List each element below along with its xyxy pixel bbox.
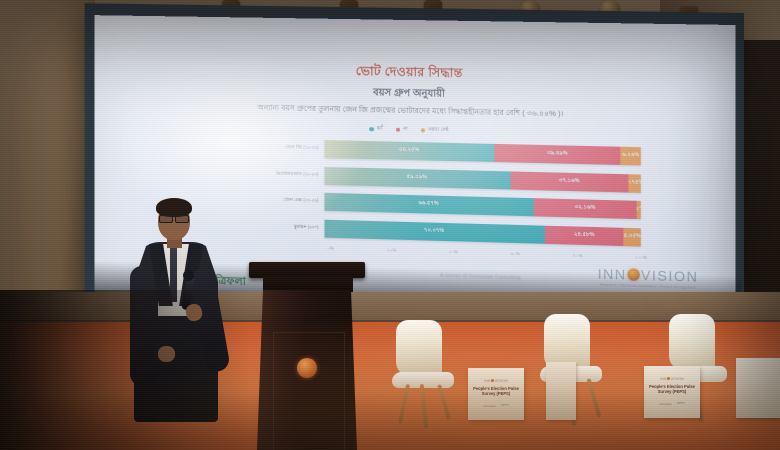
bar-group: ৬৬.৫৭% ৩২.১৬% ১.২৭% [325, 193, 641, 219]
bar-segment-no-comment: ৩.৭৫% [629, 174, 641, 193]
x-axis-tick: ৮০% [573, 253, 582, 260]
chart-row: জেন জি (১৮-২৭) ৫৪.২৫% ৩৯.৪৯% ৬.২৬% [240, 136, 641, 167]
glasses-icon [159, 215, 189, 221]
legend-item-no: না [396, 126, 408, 134]
category-age: (৬০+) [308, 224, 319, 229]
card-logo: INN VISION [660, 377, 684, 381]
category-label: জেন এক্স (৪৪-৫৯) [240, 197, 325, 205]
category-label: জেন জি (১৮-২৭) [240, 144, 325, 151]
blank-card-panel [546, 362, 576, 420]
card-footer-right: ত্রিফলা [501, 403, 509, 409]
bar-group: ৫৯.০৯% ৩৭.১৬% ৩.৭৫% [325, 166, 641, 192]
legend-label: হ্যাঁ [377, 125, 383, 133]
bar-group: ৭০.০৭% ২৪.৫৮% ৫.৩৫% [325, 219, 641, 246]
bar-segment-no-comment: ৫.৩৫% [624, 227, 641, 246]
category-name: মিলেনিয়ালস [276, 170, 302, 177]
card-footer: Innovision ত্রিফলা [659, 401, 684, 407]
card-footer-left: Innovision [483, 404, 496, 408]
podium-body [257, 290, 357, 450]
chart-rows: জেন জি (১৮-২৭) ৫৪.২৫% ৩৯.৪৯% ৬.২৬% মিলেন… [240, 136, 641, 252]
podium-neck [263, 276, 353, 292]
podium-emblem-icon [297, 358, 317, 378]
card-footer-left: Innovision [659, 402, 672, 406]
category-name: জেন জি [285, 144, 302, 150]
card-logo: INN VISION [484, 379, 508, 383]
x-axis-tick: ১০০% [635, 254, 647, 261]
microphone-head-icon [183, 270, 194, 281]
card-logo-left: INN [484, 379, 491, 383]
card-footer-right: ত্রিফলা [677, 401, 685, 407]
category-label: মিলেনিয়ালস (২৮-৪৩) [240, 171, 325, 179]
stage-left-shadow [0, 290, 250, 450]
stacked-bar-chart: জেন জি (১৮-২৭) ৫৪.২৫% ৩৯.৪৯% ৬.২৬% মিলেন… [240, 136, 641, 275]
category-label: বুমার+ (৬০+) [240, 223, 325, 231]
podium [255, 262, 359, 450]
bar-segment-no: ৩২.১৬% [534, 198, 637, 219]
bar-segment-yes: ৫৪.২৫% [325, 140, 495, 162]
bar-segment-no: ৩৭.১৬% [510, 171, 629, 192]
x-axis-tick: ০% [327, 246, 333, 253]
blank-card-panel [736, 358, 780, 418]
category-age: (৪৪-৫৯) [303, 197, 318, 202]
podium-panel [273, 332, 345, 450]
card-logo-right: VISION [495, 379, 508, 383]
left-wall [0, 0, 95, 330]
card-title: People's Election Pulse Survey (PEPS) [470, 386, 522, 396]
legend-swatch-icon [370, 127, 374, 132]
x-axis-tick: ৬০% [511, 251, 520, 258]
legend-label: মন্তব্য নেই [428, 126, 448, 134]
category-name: জেন এক্স [284, 197, 302, 203]
legend-swatch-icon [421, 128, 426, 133]
card-footer: Innovision ত্রিফলা [483, 403, 508, 409]
chair-name-card: INN VISION People's Election Pulse Surve… [644, 366, 700, 418]
x-axis-tick: ৪০% [449, 249, 458, 256]
legend-item-yes: হ্যাঁ [370, 125, 383, 133]
category-age: (২৮-৪৩) [303, 171, 318, 176]
legend-swatch-icon [396, 127, 400, 132]
chart-legend: হ্যাঁ না মন্তব্য নেই [94, 119, 735, 141]
card-title: People's Election Pulse Survey (PEPS) [646, 384, 698, 394]
bar-segment-no: ৩৯.৪৯% [495, 144, 621, 165]
bar-segment-yes: ৬৬.৫৭% [325, 193, 534, 216]
presentation-scene: ভোট দেওয়ার সিদ্ধান্ত বয়স গ্রুপ অনুযায়… [0, 0, 780, 450]
legend-label: না [403, 126, 408, 134]
x-axis-tick: ২০% [387, 247, 396, 254]
bar-segment-no-comment: ১.২৭% [637, 201, 641, 219]
chair-backrest [669, 314, 715, 370]
category-age: (১৮-২৭) [303, 145, 318, 150]
chair-name-card: INN VISION People's Election Pulse Surve… [468, 368, 524, 420]
legend-item-no-comment: মন্তব্য নেই [421, 126, 449, 135]
chart-row: বুমার+ (৬০+) ৭০.০৭% ২৪.৫৮% ৫.৩৫% [240, 215, 641, 248]
bar-segment-no: ২৪.৫৮% [545, 225, 624, 245]
bar-segment-no-comment: ৬.২৬% [621, 147, 641, 166]
bar-segment-yes: ৫৯.০৯% [325, 166, 510, 189]
category-name: বুমার+ [294, 224, 307, 230]
chair-backrest [396, 320, 442, 376]
bar-segment-yes: ৭০.০৭% [325, 219, 545, 243]
bar-group: ৫৪.২৫% ৩৯.৪৯% ৬.২৬% [325, 140, 641, 165]
card-logo-right: VISION [671, 377, 684, 381]
card-logo-left: INN [660, 377, 667, 381]
